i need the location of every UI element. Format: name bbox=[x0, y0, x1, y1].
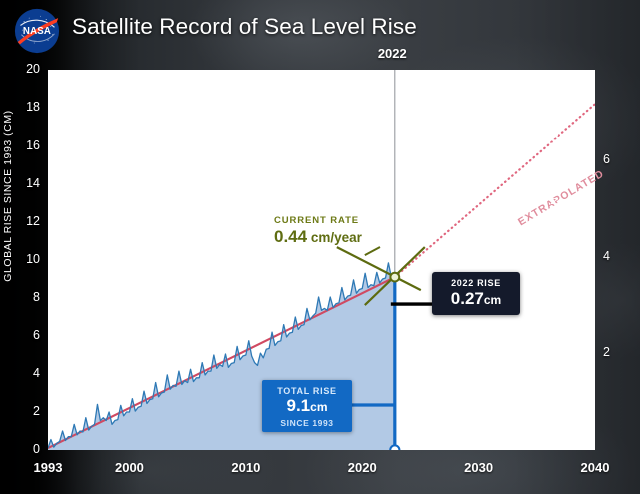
header: NASA Satellite Record of Sea Level Rise bbox=[0, 0, 640, 62]
y-tick-left: 10 bbox=[14, 252, 40, 266]
current-rate-number: 0.44 bbox=[274, 227, 307, 246]
marker-year-label: 2022 bbox=[378, 46, 407, 61]
y-tick-left: 6 bbox=[14, 328, 40, 342]
y-tick-left: 12 bbox=[14, 214, 40, 228]
current-rate-unit: cm/year bbox=[311, 230, 362, 245]
rise-2022-callout-box: 2022 RISE 0.27cm bbox=[432, 272, 520, 315]
page-title: Satellite Record of Sea Level Rise bbox=[72, 14, 417, 40]
y-tick-left: 8 bbox=[14, 290, 40, 304]
x-tick: 2020 bbox=[332, 460, 392, 475]
current-rate-title: CURRENT RATE bbox=[274, 215, 362, 226]
nasa-wordmark: NASA bbox=[23, 26, 51, 37]
total-rise-subtitle: SINCE 1993 bbox=[262, 418, 352, 428]
current-rate-value: 0.44 cm/year bbox=[274, 227, 362, 247]
rise-2022-number: 0.27 bbox=[451, 289, 484, 308]
x-tick: 2030 bbox=[449, 460, 509, 475]
current-rate-callout: CURRENT RATE 0.44 cm/year bbox=[274, 215, 362, 247]
total-rise-value: 9.1cm bbox=[262, 396, 352, 416]
y-tick-left: 14 bbox=[14, 176, 40, 190]
rise-2022-value: 0.27cm bbox=[432, 289, 520, 309]
x-tick: 2010 bbox=[216, 460, 276, 475]
x-tick: 1993 bbox=[18, 460, 78, 475]
y-tick-left: 20 bbox=[14, 62, 40, 76]
y-tick-left: 18 bbox=[14, 100, 40, 114]
x-tick: 2040 bbox=[565, 460, 625, 475]
total-rise-title: TOTAL RISE bbox=[262, 386, 352, 396]
y-axis-title-right: GLOBAL RISE SINCE 1993 (INCHES) bbox=[549, 36, 561, 356]
y-tick-left: 16 bbox=[14, 138, 40, 152]
y-tick-left: 2 bbox=[14, 404, 40, 418]
total-rise-callout-box: TOTAL RISE 9.1cm SINCE 1993 bbox=[262, 380, 352, 432]
total-rise-unit: cm bbox=[310, 400, 327, 414]
nasa-meatball-logo: NASA bbox=[14, 8, 60, 54]
total-rise-number: 9.1 bbox=[287, 396, 311, 415]
x-tick: 2000 bbox=[99, 460, 159, 475]
y-tick-right: 2 bbox=[603, 345, 629, 359]
y-axis-title-left: GLOBAL RISE SINCE 1993 (CM) bbox=[2, 36, 14, 356]
y-tick-left: 0 bbox=[14, 442, 40, 456]
y-tick-left: 4 bbox=[14, 366, 40, 380]
rise-2022-title: 2022 RISE bbox=[432, 278, 520, 288]
rise-2022-unit: cm bbox=[484, 293, 501, 307]
y-tick-right: 4 bbox=[603, 249, 629, 263]
y-tick-right: 6 bbox=[603, 152, 629, 166]
